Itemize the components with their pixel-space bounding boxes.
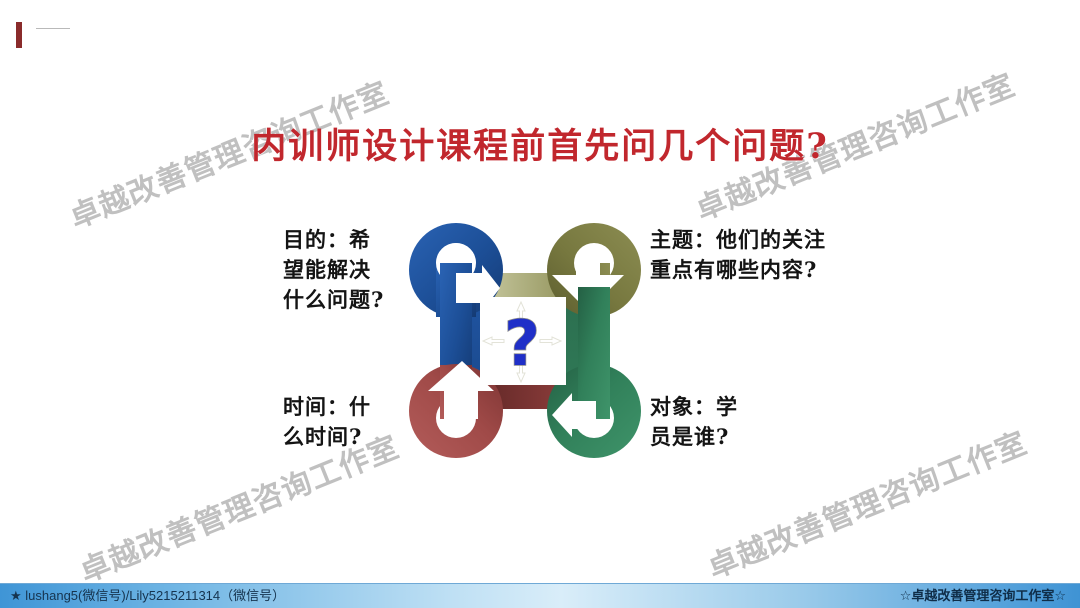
slide-canvas: 卓越改善管理咨询工作室 卓越改善管理咨询工作室 卓越改善管理咨询工作室 卓越改善… [0, 0, 1080, 608]
footer-brand-text: ☆卓越改善管理咨询工作室☆ [900, 584, 1066, 608]
corner-accent-bar [16, 22, 22, 48]
footer-bar: ★ lushang5(微信号)/Lily5215211314（微信号） ☆卓越改… [0, 583, 1080, 608]
center-question-mark: ? [504, 307, 540, 380]
label-audience: 对象：学 员是谁? [650, 392, 800, 452]
cycle-diagram: ? [400, 215, 650, 465]
footer-contact-text: ★ lushang5(微信号)/Lily5215211314（微信号） [10, 584, 285, 608]
label-time: 时间：什 么时间? [283, 392, 413, 452]
slide-title: 内训师设计课程前首先问几个问题? [0, 118, 1080, 169]
corner-accent-line [36, 28, 70, 29]
label-topic: 主题：他们的关注 重点有哪些内容? [650, 225, 860, 285]
label-purpose: 目的：希 望能解决 什么问题? [283, 225, 413, 314]
